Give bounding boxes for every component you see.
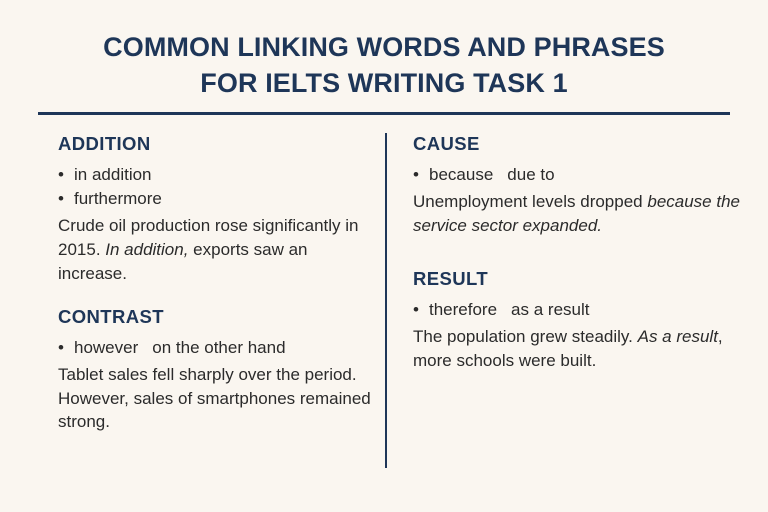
section-cause: CAUSE becausedue to Unemployment levels … [413, 133, 748, 238]
page-title-line-2: FOR IELTS WRITING TASK 1 [40, 66, 728, 102]
bullet-icon [58, 187, 74, 211]
section-heading-result: RESULT [413, 268, 748, 290]
example-pre: The population grew steadily. [413, 327, 638, 346]
bullet-icon [413, 163, 429, 187]
list-item: furthermore [58, 187, 373, 211]
section-heading-contrast: CONTRAST [58, 306, 373, 328]
linking-phrase: however [74, 338, 138, 357]
page-title-line-1: COMMON LINKING WORDS AND PHRASES [40, 30, 728, 66]
section-result: RESULT thereforeas a result The populati… [413, 268, 748, 373]
right-column: CAUSE becausedue to Unemployment levels … [385, 133, 768, 392]
linking-phrase: due to [507, 165, 554, 184]
linking-phrase: because [429, 165, 493, 184]
content-columns: ADDITION in addition furthermore Crude o… [0, 133, 768, 454]
example-pre: Unemployment levels dropped [413, 192, 647, 211]
linking-phrase: on the other hand [152, 338, 285, 357]
bullet-icon [58, 336, 74, 360]
example-sentence-cause: Unemployment levels dropped because the … [413, 190, 748, 238]
list-item: howeveron the other hand [58, 336, 373, 360]
linking-phrase: in addition [74, 165, 152, 184]
section-contrast: CONTRAST howeveron the other hand Tablet… [58, 306, 373, 435]
linking-phrase: as a result [511, 300, 589, 319]
bullet-icon [413, 298, 429, 322]
example-sentence-contrast: Tablet sales fell sharply over the perio… [58, 363, 373, 434]
title-divider [38, 112, 730, 115]
linking-phrase: furthermore [74, 189, 162, 208]
example-pre: Tablet sales fell sharply over the perio… [58, 365, 371, 432]
title-block: COMMON LINKING WORDS AND PHRASES FOR IEL… [0, 0, 768, 102]
section-heading-cause: CAUSE [413, 133, 748, 155]
bullet-icon [58, 163, 74, 187]
example-emphasis: As a result [638, 327, 718, 346]
left-column: ADDITION in addition furthermore Crude o… [0, 133, 385, 454]
example-emphasis: In addition, [105, 240, 188, 259]
section-heading-addition: ADDITION [58, 133, 373, 155]
linking-phrase: therefore [429, 300, 497, 319]
example-sentence-result: The population grew steadily. As a resul… [413, 325, 748, 373]
list-item: thereforeas a result [413, 298, 748, 322]
section-addition: ADDITION in addition furthermore Crude o… [58, 133, 373, 286]
poster-root: COMMON LINKING WORDS AND PHRASES FOR IEL… [0, 0, 768, 512]
example-sentence-addition: Crude oil production rose significantly … [58, 214, 373, 285]
list-item: in addition [58, 163, 373, 187]
list-item: becausedue to [413, 163, 748, 187]
